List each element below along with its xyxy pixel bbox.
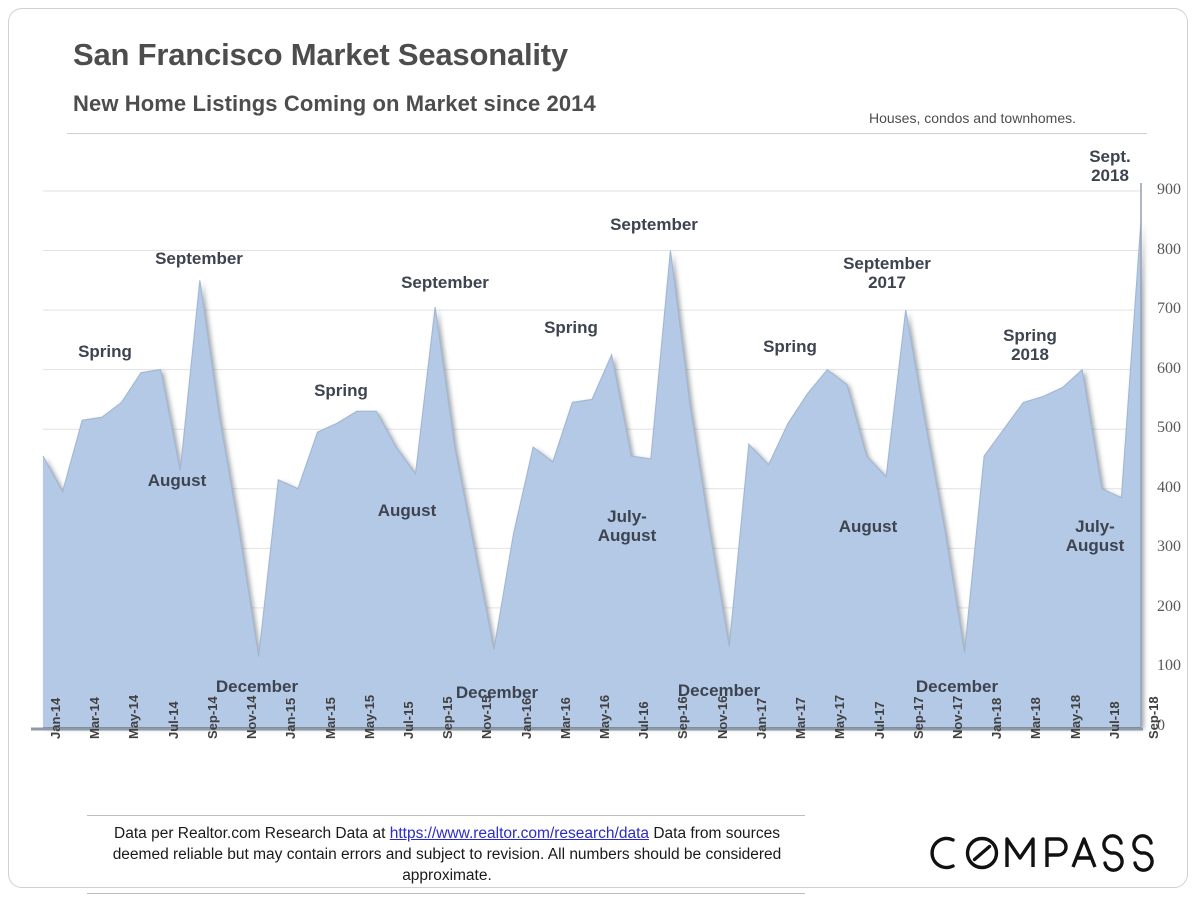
compass-wordmark-icon bbox=[925, 828, 1157, 878]
y-axis-tick-label: 800 bbox=[1157, 241, 1200, 259]
x-axis-tick-label: Nov-17 bbox=[950, 696, 965, 739]
x-axis-tick-label: Jan-15 bbox=[283, 698, 298, 739]
x-axis-tick-label: Sep-17 bbox=[911, 696, 926, 739]
x-axis-tick-label: Jul-16 bbox=[636, 701, 651, 739]
y-axis-tick-label: 700 bbox=[1157, 300, 1200, 318]
compass-logo bbox=[925, 827, 1157, 879]
header-note: Houses, condos and townhomes. bbox=[869, 110, 1076, 126]
footer-divider-top bbox=[87, 815, 805, 816]
footer-divider-bottom bbox=[87, 893, 805, 894]
x-axis-tick-label: May-16 bbox=[597, 695, 612, 739]
chart-annotation: September bbox=[375, 273, 515, 292]
y-axis-tick-label: 0 bbox=[1157, 717, 1200, 735]
y-axis-tick-label: 100 bbox=[1157, 657, 1200, 675]
x-axis-tick-label: Nov-15 bbox=[479, 696, 494, 739]
chart-annotation: August bbox=[107, 471, 247, 490]
chart-annotation: Spring bbox=[35, 342, 175, 361]
footnote: Data per Realtor.com Research Data at ht… bbox=[109, 824, 785, 887]
x-axis-tick-label: Mar-14 bbox=[87, 697, 102, 739]
chart-annotation: December bbox=[649, 681, 789, 700]
y-axis-tick-label: 400 bbox=[1157, 479, 1200, 497]
y-axis-tick-label: 500 bbox=[1157, 419, 1200, 437]
x-axis-tick-label: Jul-14 bbox=[166, 701, 181, 739]
x-axis-tick-label: May-15 bbox=[362, 695, 377, 739]
x-axis-tick-label: Sep-14 bbox=[205, 696, 220, 739]
x-axis-tick-label: May-14 bbox=[126, 695, 141, 739]
chart-annotation: September bbox=[129, 249, 269, 268]
chart-annotation: December bbox=[887, 677, 1027, 696]
chart-annotation: July- August bbox=[1025, 517, 1165, 555]
x-axis-tick-label: May-18 bbox=[1068, 695, 1083, 739]
x-axis-tick-label: Jan-16 bbox=[519, 698, 534, 739]
x-axis-tick-label: May-17 bbox=[832, 695, 847, 739]
header-divider bbox=[67, 133, 1147, 134]
page-title: San Francisco Market Seasonality bbox=[73, 37, 568, 73]
x-axis-tick-label: Jan-17 bbox=[754, 698, 769, 739]
x-axis-tick-label: Jul-15 bbox=[401, 701, 416, 739]
x-axis-tick-label: Jul-18 bbox=[1107, 701, 1122, 739]
x-axis-tick-label: Nov-16 bbox=[715, 696, 730, 739]
area-line bbox=[43, 221, 1141, 657]
chart-annotation: July- August bbox=[557, 507, 697, 545]
chart-annotation: September bbox=[584, 215, 724, 234]
x-axis-tick-label: Jan-18 bbox=[989, 698, 1004, 739]
x-axis-tick-label: Mar-17 bbox=[793, 697, 808, 739]
chart-annotation: August bbox=[337, 501, 477, 520]
x-axis-tick-label: Mar-18 bbox=[1028, 697, 1043, 739]
chart-annotation: September 2017 bbox=[817, 254, 957, 292]
x-axis-tick-label: Mar-16 bbox=[558, 697, 573, 739]
page-subtitle: New Home Listings Coming on Market since… bbox=[73, 91, 596, 117]
chart-annotation: Sept. 2018 bbox=[1040, 147, 1180, 185]
seasonality-area-chart bbox=[9, 9, 1200, 909]
chart-annotation: December bbox=[187, 677, 327, 696]
footnote-text-before: Data per Realtor.com Research Data at bbox=[114, 825, 390, 842]
chart-gridlines bbox=[43, 191, 1141, 727]
x-axis-tick-label: Jul-17 bbox=[872, 701, 887, 739]
source-link[interactable]: https://www.realtor.com/research/data bbox=[390, 825, 649, 842]
chart-annotation: Spring 2018 bbox=[960, 326, 1100, 364]
x-axis-tick-label: Sep-15 bbox=[440, 696, 455, 739]
y-axis-tick-label: 200 bbox=[1157, 598, 1200, 616]
chart-annotation: December bbox=[427, 683, 567, 702]
chart-annotation: Spring bbox=[720, 337, 860, 356]
x-axis-tick-label: Jan-14 bbox=[48, 698, 63, 739]
chart-annotation: Spring bbox=[271, 381, 411, 400]
chart-annotation: Spring bbox=[501, 318, 641, 337]
chart-card: San Francisco Market Seasonality New Hom… bbox=[8, 8, 1188, 888]
y-axis-tick-label: 600 bbox=[1157, 360, 1200, 378]
x-axis-tick-label: Sep-16 bbox=[675, 696, 690, 739]
chart-annotation: August bbox=[798, 517, 938, 536]
x-axis-tick-label: Nov-14 bbox=[244, 696, 259, 739]
x-axis-tick-label: Mar-15 bbox=[323, 697, 338, 739]
x-axis-tick-label: Sep-18 bbox=[1146, 696, 1161, 739]
